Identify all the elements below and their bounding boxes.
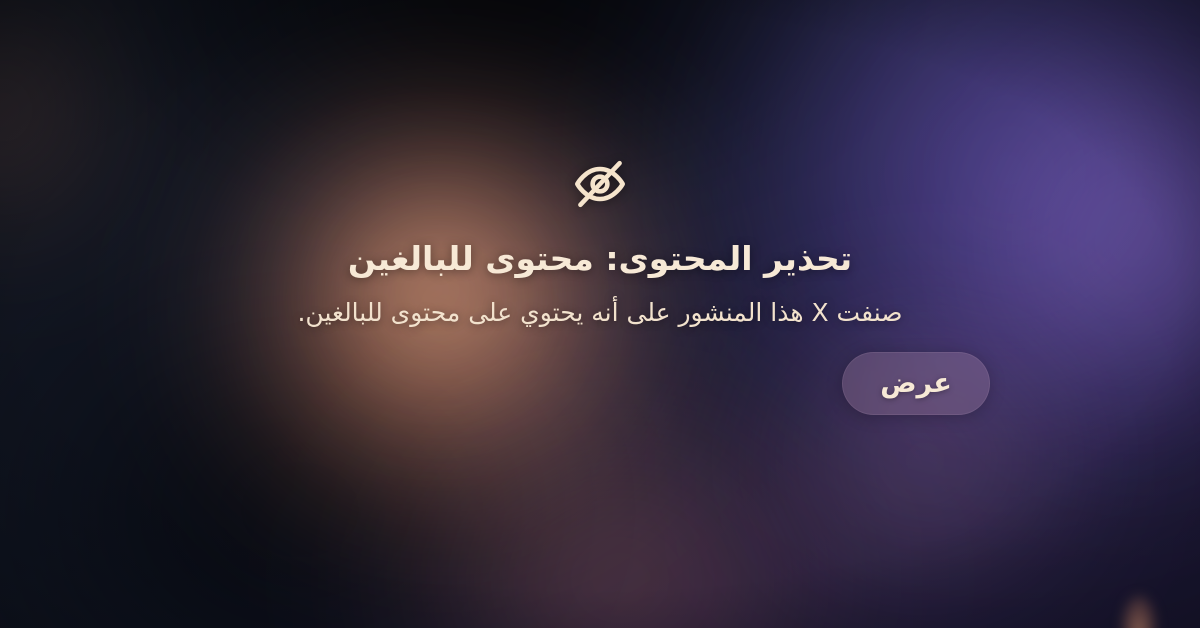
warning-actions: عرض bbox=[210, 352, 990, 415]
warning-description: صنفت X هذا المنشور على أنه يحتوي على محت… bbox=[297, 296, 902, 330]
eye-off-icon bbox=[571, 155, 629, 213]
warning-title: تحذير المحتوى: محتوى للبالغين bbox=[348, 239, 852, 279]
view-button[interactable]: عرض bbox=[842, 352, 990, 415]
warning-content: تحذير المحتوى: محتوى للبالغين صنفت X هذا… bbox=[0, 0, 1200, 628]
content-warning-overlay: تحذير المحتوى: محتوى للبالغين صنفت X هذا… bbox=[0, 0, 1200, 628]
